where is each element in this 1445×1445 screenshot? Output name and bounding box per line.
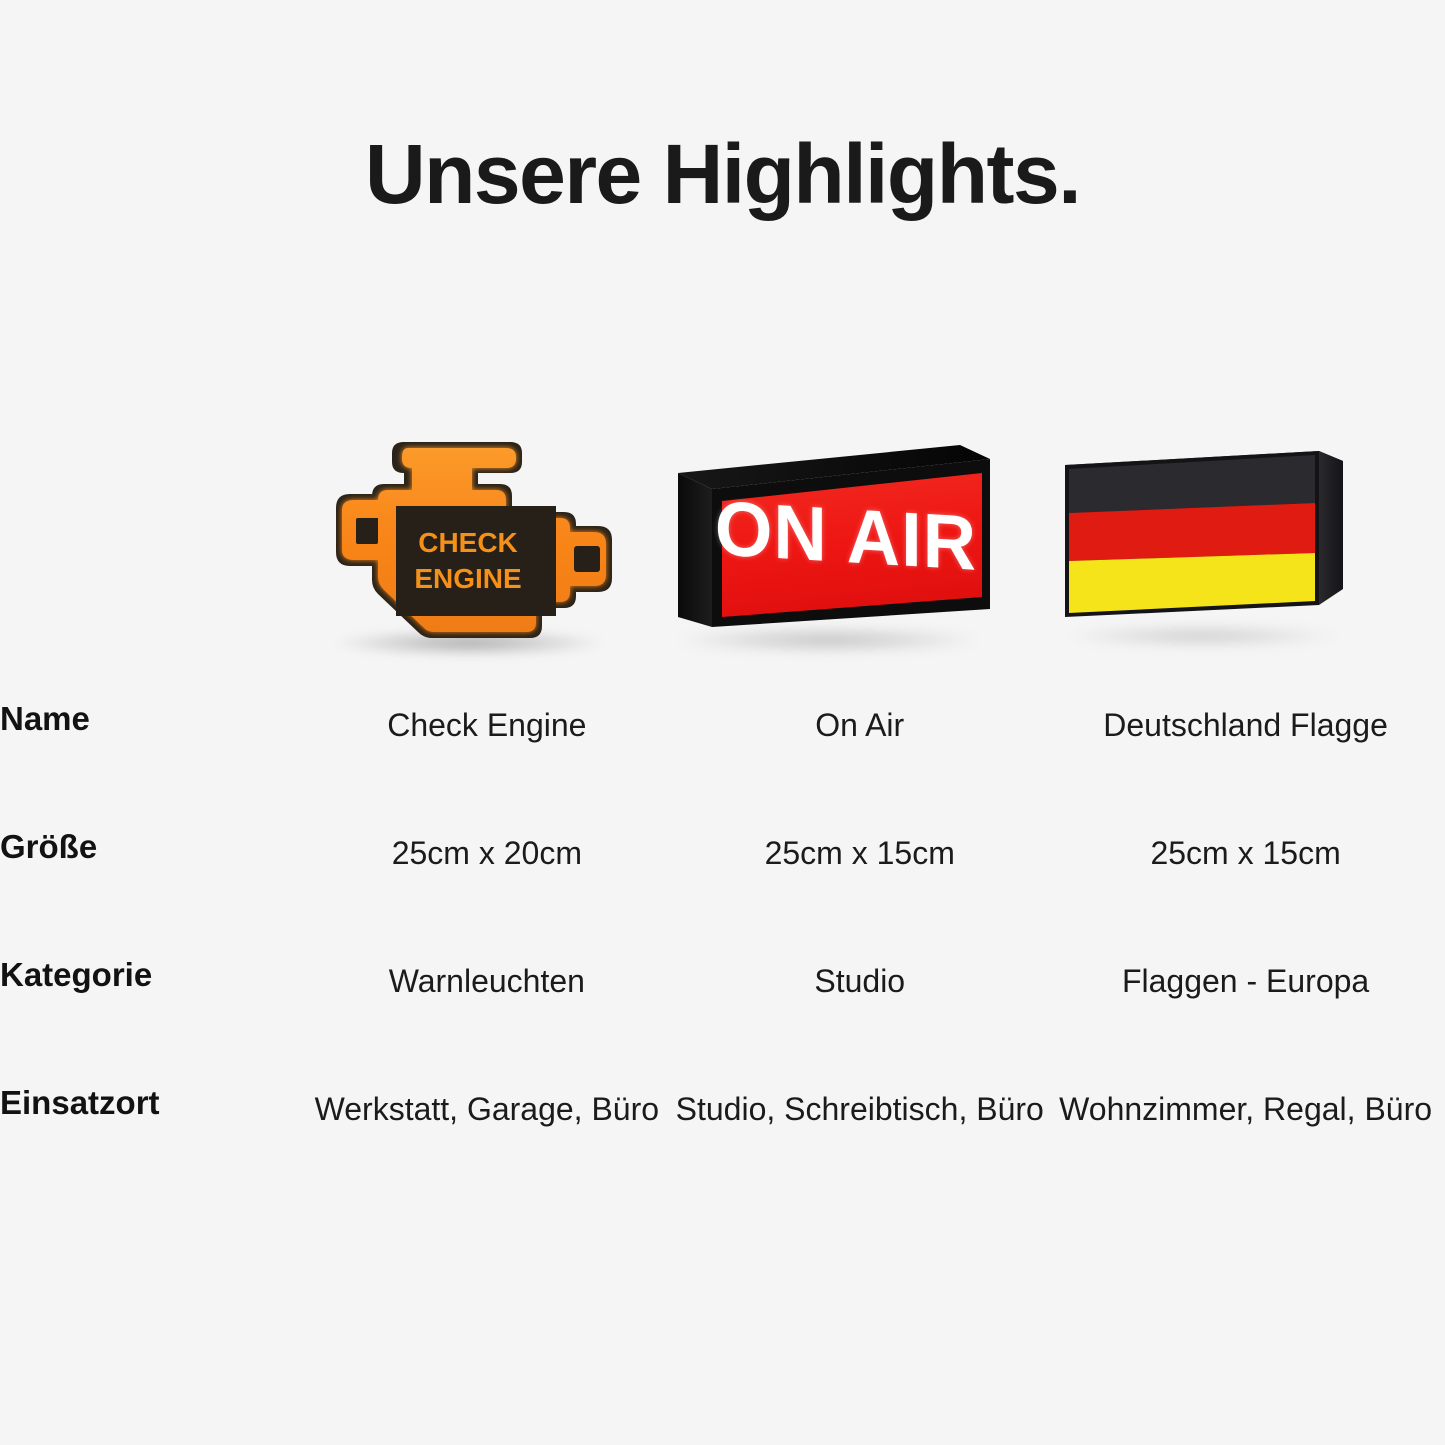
cell-groesse-check-engine: 25cm x 20cm: [300, 828, 673, 956]
on-air-label: ON AIR: [712, 463, 980, 608]
row-label-kategorie: Kategorie: [0, 956, 300, 1084]
row-label-einsatzort: Einsatzort: [0, 1084, 300, 1234]
table-row: Größe 25cm x 20cm 25cm x 15cm 25cm x 15c…: [0, 828, 1445, 956]
cell-name-check-engine: Check Engine: [300, 700, 673, 828]
cell-name-on-air: On Air: [673, 700, 1046, 828]
product-cell-check-engine[interactable]: CHECK ENGINE: [290, 404, 650, 674]
product-image-row: CHECK ENGINE: [0, 404, 1445, 674]
product-cell-deutschland-flagge[interactable]: [1010, 404, 1395, 674]
product-comparison-table: Name Check Engine On Air Deutschland Fla…: [0, 700, 1445, 1234]
cell-kategorie-on-air: Studio: [673, 956, 1046, 1084]
product-cell-on-air[interactable]: ON AIR: [650, 404, 1010, 674]
cell-kategorie-deutschland-flagge: Flaggen - Europa: [1046, 956, 1445, 1084]
cell-einsatzort-on-air: Studio, Schreibtisch, Büro: [673, 1084, 1046, 1234]
check-engine-line2: ENGINE: [414, 563, 521, 594]
check-engine-lamp[interactable]: CHECK ENGINE: [312, 426, 628, 658]
page-title: Unsere Highlights.: [0, 128, 1445, 220]
cell-kategorie-check-engine: Warnleuchten: [300, 956, 673, 1084]
cell-groesse-on-air: 25cm x 15cm: [673, 828, 1046, 956]
cell-einsatzort-deutschland-flagge: Wohnzimmer, Regal, Büro: [1046, 1084, 1445, 1234]
row-label-groesse: Größe: [0, 828, 300, 956]
on-air-lightbox[interactable]: ON AIR: [660, 431, 1000, 646]
cell-name-deutschland-flagge: Deutschland Flagge: [1046, 700, 1445, 828]
row-label-name: Name: [0, 700, 300, 828]
table-row: Einsatzort Werkstatt, Garage, Büro Studi…: [0, 1084, 1445, 1234]
check-engine-line1: CHECK: [418, 527, 518, 558]
germany-flag-icon: [1053, 437, 1353, 642]
product-image-spacer: [0, 404, 290, 674]
check-engine-icon: CHECK ENGINE: [312, 426, 628, 658]
table-row: Name Check Engine On Air Deutschland Fla…: [0, 700, 1445, 828]
cell-groesse-deutschland-flagge: 25cm x 15cm: [1046, 828, 1445, 956]
germany-flag-lightbox[interactable]: [1053, 437, 1353, 642]
table-row: Kategorie Warnleuchten Studio Flaggen - …: [0, 956, 1445, 1084]
cell-einsatzort-check-engine: Werkstatt, Garage, Büro: [300, 1084, 673, 1234]
highlights-page: Unsere Highlights.: [0, 0, 1445, 1445]
